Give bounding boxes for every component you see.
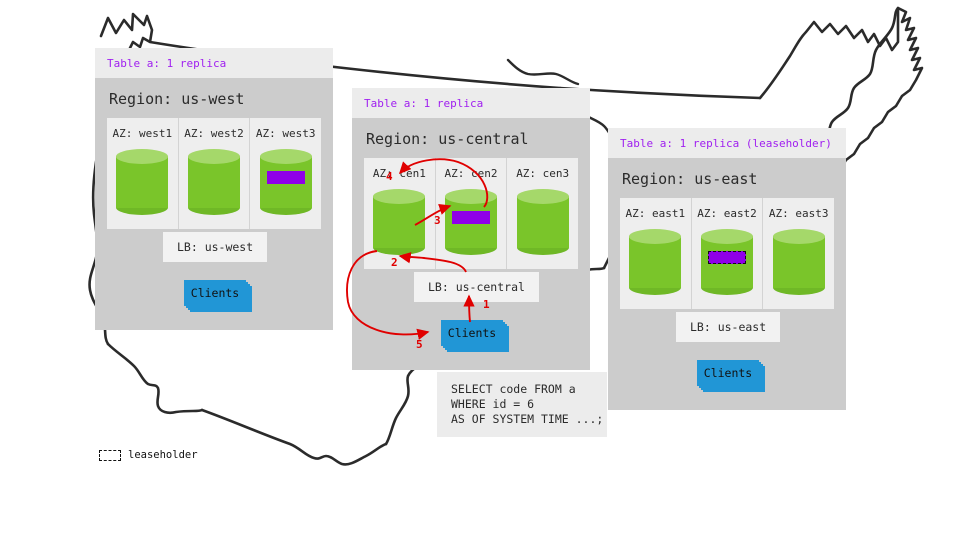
dashed-rect-icon (99, 450, 121, 461)
node-cylinder-east2[interactable] (701, 229, 753, 295)
az-card-cen2[interactable]: AZ: cen2 (436, 158, 508, 269)
az-label-cen1: AZ: cen1 (373, 167, 426, 180)
node-cylinder-cen1[interactable] (373, 189, 425, 255)
sql-query-box: SELECT code FROM a WHERE id = 6 AS OF SY… (437, 372, 607, 437)
az-card-cen3[interactable]: AZ: cen3 (507, 158, 578, 269)
az-card-east1[interactable]: AZ: east1 (620, 198, 692, 309)
clients-stack-us-central[interactable]: Clients (441, 320, 503, 346)
cylinder-top-icon (188, 149, 240, 164)
az-label-east2: AZ: east2 (697, 207, 757, 220)
cylinder-top-icon (773, 229, 825, 244)
node-cylinder-west1[interactable] (116, 149, 168, 215)
cylinder-top-icon (373, 189, 425, 204)
region-panel-us-west: Table a: 1 replica Region: us-west AZ: w… (95, 48, 333, 330)
region-title-us-east: Region: us-east (608, 158, 846, 198)
node-cylinder-cen2[interactable] (445, 189, 497, 255)
clients-label-us-west: Clients (184, 280, 246, 306)
node-cylinder-west3[interactable] (260, 149, 312, 215)
az-label-west2: AZ: west2 (184, 127, 244, 140)
az-card-cen1[interactable]: AZ: cen1 (364, 158, 436, 269)
clients-stack-us-east[interactable]: Clients (697, 360, 759, 386)
az-label-cen2: AZ: cen2 (445, 167, 498, 180)
az-card-east2[interactable]: AZ: east2 (692, 198, 764, 309)
load-balancer-us-west[interactable]: LB: us-west (163, 232, 267, 262)
az-card-west1[interactable]: AZ: west1 (107, 118, 179, 229)
clients-label-us-central: Clients (441, 320, 503, 346)
node-cylinder-east3[interactable] (773, 229, 825, 295)
az-row-us-central: AZ: cen1 AZ: cen2 AZ: cen3 (364, 158, 578, 269)
load-balancer-us-central[interactable]: LB: us-central (414, 272, 539, 302)
region-banner-us-east: Table a: 1 replica (leaseholder) (608, 128, 846, 158)
legend-label: leaseholder (128, 449, 198, 461)
clients-label-us-east: Clients (697, 360, 759, 386)
az-row-us-east: AZ: east1 AZ: east2 AZ: east3 (620, 198, 834, 309)
region-panel-us-central: Table a: 1 replica Region: us-central AZ… (352, 88, 590, 370)
az-label-east3: AZ: east3 (769, 207, 829, 220)
az-label-west3: AZ: west3 (256, 127, 316, 140)
az-card-west2[interactable]: AZ: west2 (179, 118, 251, 229)
az-label-east1: AZ: east1 (626, 207, 686, 220)
node-cylinder-cen3[interactable] (517, 189, 569, 255)
region-banner-us-west: Table a: 1 replica (95, 48, 333, 78)
region-title-us-central: Region: us-central (352, 118, 590, 158)
az-label-west1: AZ: west1 (113, 127, 173, 140)
az-row-us-west: AZ: west1 AZ: west2 AZ: west3 (107, 118, 321, 229)
clients-stack-us-west[interactable]: Clients (184, 280, 246, 306)
az-label-cen3: AZ: cen3 (516, 167, 569, 180)
leaseholder-replica-marker-east2 (708, 251, 746, 264)
cylinder-top-icon (445, 189, 497, 204)
az-card-east3[interactable]: AZ: east3 (763, 198, 834, 309)
region-title-us-west: Region: us-west (95, 78, 333, 118)
node-cylinder-west2[interactable] (188, 149, 240, 215)
cylinder-top-icon (260, 149, 312, 164)
replica-marker-west3 (267, 171, 305, 184)
region-banner-us-central: Table a: 1 replica (352, 88, 590, 118)
cylinder-top-icon (629, 229, 681, 244)
replica-marker-cen2 (452, 211, 490, 224)
region-panel-us-east: Table a: 1 replica (leaseholder) Region:… (608, 128, 846, 410)
cylinder-top-icon (701, 229, 753, 244)
legend: leaseholder (99, 449, 198, 461)
az-card-west3[interactable]: AZ: west3 (250, 118, 321, 229)
node-cylinder-east1[interactable] (629, 229, 681, 295)
cylinder-top-icon (116, 149, 168, 164)
cylinder-top-icon (517, 189, 569, 204)
diagram-canvas: Table a: 1 replica Region: us-west AZ: w… (0, 0, 960, 540)
load-balancer-us-east[interactable]: LB: us-east (676, 312, 780, 342)
